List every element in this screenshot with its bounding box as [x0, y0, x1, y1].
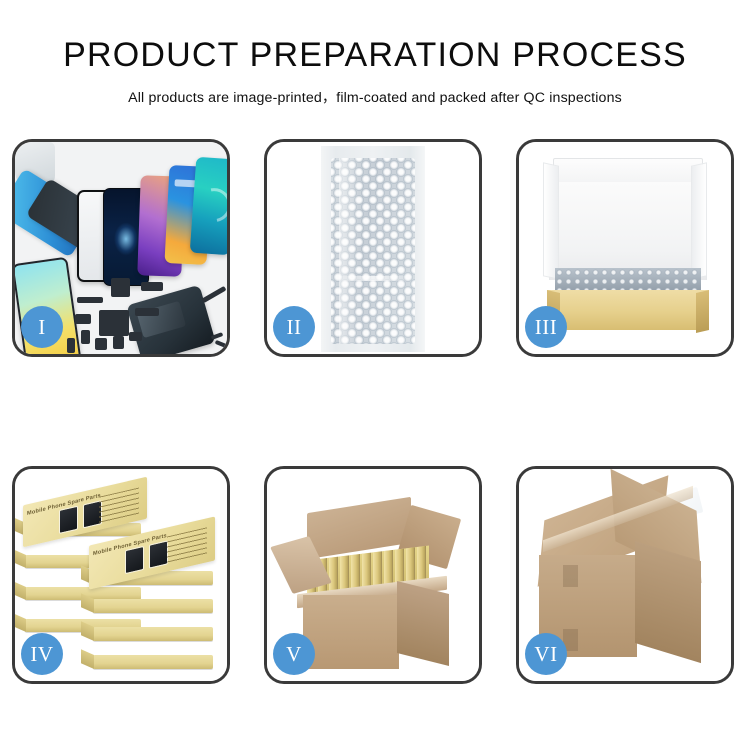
step-badge-4: IV [21, 633, 63, 675]
part-flex-cable-dark [135, 308, 159, 316]
pouch-gloss-highlight [339, 158, 359, 344]
box-side-flap-left [543, 162, 559, 279]
phone-swirl-graphic [190, 181, 227, 228]
step-panel-5: V [264, 466, 482, 684]
box-inner-back-wall [549, 182, 707, 280]
step-badge-2: II [273, 306, 315, 348]
part-tweezers [201, 286, 226, 303]
part-component-2 [81, 330, 90, 344]
stacked-box-front-4 [93, 655, 213, 669]
page-title: PRODUCT PREPARATION PROCESS [0, 0, 750, 72]
step-panel-4: Mobile Phone Spare Parts Mobile Phone Sp… [12, 466, 230, 684]
bubble-wrap-pouch [331, 158, 415, 344]
box-spec-text-lines-second [167, 527, 207, 563]
page-subtitle: All products are image-printed，film-coat… [0, 72, 750, 107]
box-side-flap-right [691, 162, 707, 279]
box-front-panel-kraft [547, 290, 709, 330]
carton-front-face [303, 595, 399, 669]
carton-seam-mark-top [563, 565, 578, 587]
carton-side-face [397, 581, 449, 666]
sealed-carton-side-face [635, 541, 701, 663]
step-panel-1: I [12, 139, 230, 357]
step-badge-5: V [273, 633, 315, 675]
box-window-screen-1 [59, 506, 78, 534]
part-screw-2 [215, 340, 227, 348]
step-badge-6: VI [525, 633, 567, 675]
part-component-1 [75, 314, 91, 324]
part-gold-coil [111, 278, 130, 297]
stacked-box-front-2 [93, 599, 213, 613]
step-badge-3: III [525, 306, 567, 348]
box-spec-text-lines-top [99, 488, 139, 524]
product-preparation-infographic: PRODUCT PREPARATION PROCESS All products… [0, 0, 750, 750]
part-copper-grid [99, 310, 129, 336]
part-component-5 [129, 332, 142, 341]
part-speaker-bar [77, 297, 103, 303]
part-component-3 [95, 338, 107, 350]
header: PRODUCT PREPARATION PROCESS All products… [0, 0, 750, 107]
phone-open-chassis [126, 285, 216, 354]
box-window-screen-3 [125, 546, 144, 574]
part-component-6 [67, 338, 75, 353]
part-flex-cable-gold [141, 282, 163, 291]
step-panel-6: VI [516, 466, 734, 684]
part-component-4 [113, 336, 124, 349]
box-window-screen-4 [149, 540, 168, 568]
phone-screen-teal [190, 157, 227, 256]
step-badge-1: I [21, 306, 63, 348]
stacked-box-front-3 [93, 627, 213, 641]
step-panel-2: II [264, 139, 482, 357]
process-steps-grid: I II III [12, 139, 738, 684]
step-panel-3: III [516, 139, 734, 357]
